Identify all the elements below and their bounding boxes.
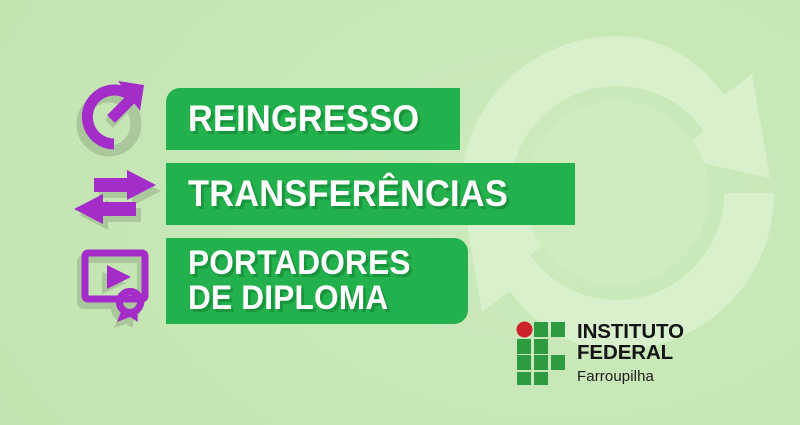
logo-title: INSTITUTO FEDERAL — [577, 322, 748, 363]
banner-portadores-label: PORTADORES DE DIPLOMA — [188, 246, 411, 315]
logo-subtitle: Farroupilha — [577, 369, 748, 384]
banner-reingresso-label: REINGRESSO — [188, 100, 419, 138]
logo-text-block: INSTITUTO FEDERAL Farroupilha — [577, 322, 748, 384]
instituto-federal-logo: INSTITUTO FEDERAL Farroupilha — [516, 318, 748, 388]
poster-canvas: REINGRESSO TRANSFERÊNCIAS — [0, 0, 800, 425]
banner-transferencias[interactable]: TRANSFERÊNCIAS — [166, 163, 575, 225]
instituto-federal-grid-mark — [516, 321, 566, 385]
diploma-certificate-icon — [80, 250, 158, 322]
two-way-arrows-icon — [72, 170, 158, 224]
banner-reingresso[interactable]: REINGRESSO — [166, 88, 460, 150]
refresh-circular-arrow-icon — [78, 72, 150, 152]
banner-transferencias-label: TRANSFERÊNCIAS — [188, 175, 508, 213]
banner-portadores[interactable]: PORTADORES DE DIPLOMA — [166, 238, 468, 324]
